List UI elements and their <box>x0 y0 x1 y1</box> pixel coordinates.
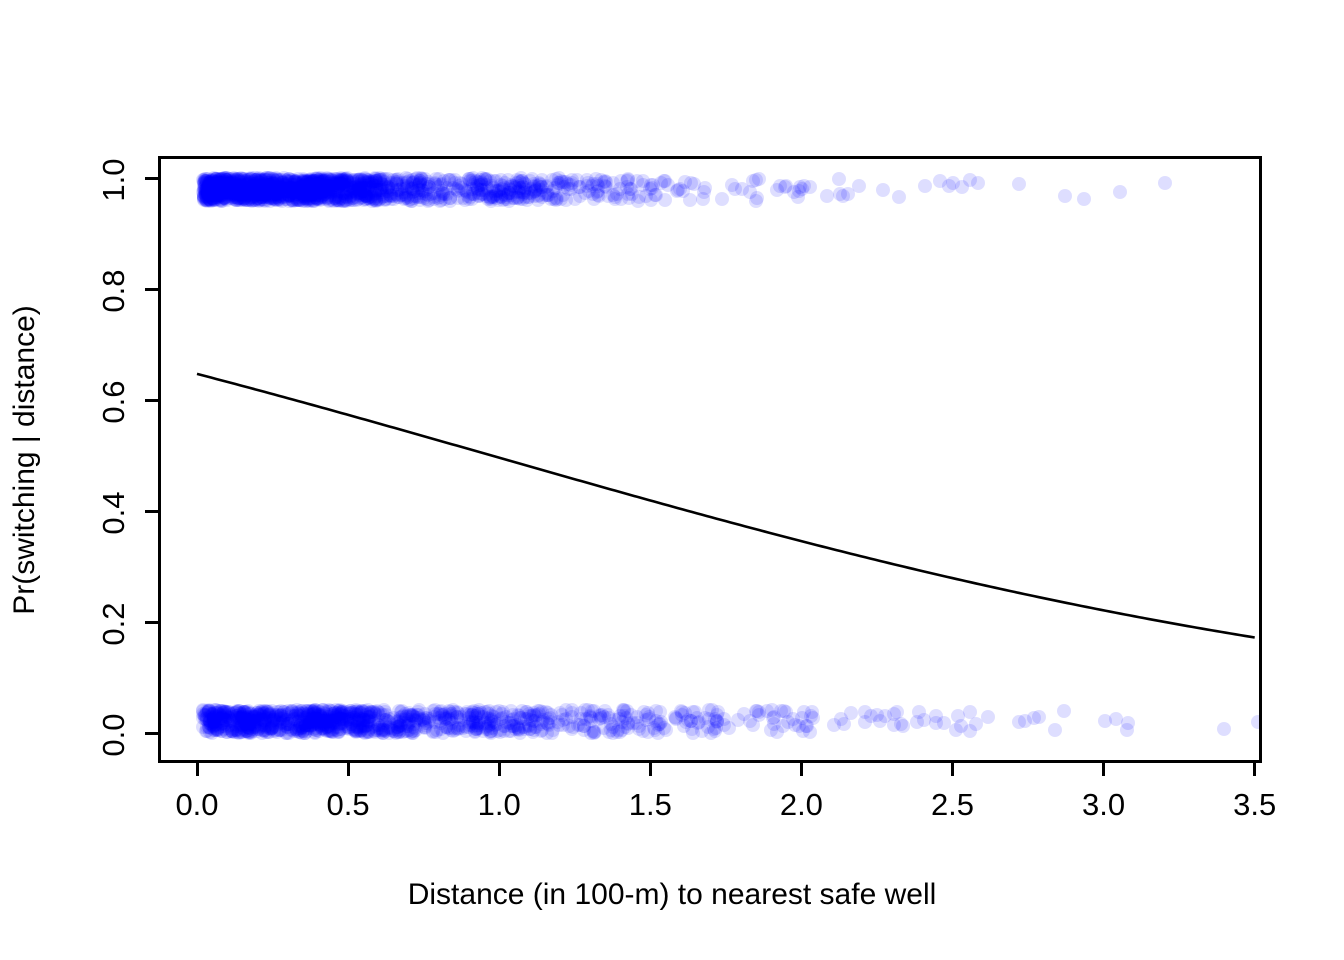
x-axis-tick <box>1102 763 1105 776</box>
x-axis-tick <box>649 763 652 776</box>
y-axis-tick-label: 0.0 <box>96 690 132 780</box>
x-axis-tick-label: 3.0 <box>1044 787 1164 823</box>
x-axis-tick-label: 2.0 <box>741 787 861 823</box>
plot-region <box>158 156 1262 763</box>
y-axis-tick-label: 0.6 <box>96 357 132 447</box>
y-axis-tick <box>145 177 158 180</box>
y-axis-tick-label: 0.2 <box>96 579 132 669</box>
y-axis-tick-label: 0.8 <box>96 246 132 336</box>
y-axis-tick <box>145 621 158 624</box>
x-axis-tick-label: 2.5 <box>893 787 1013 823</box>
y-axis-tick <box>145 288 158 291</box>
x-axis-tick-label: 0.5 <box>288 787 408 823</box>
fitted-curve-layer <box>161 159 1259 760</box>
x-axis-title: Distance (in 100-m) to nearest safe well <box>0 878 1344 912</box>
y-axis-tick <box>145 510 158 513</box>
x-axis-tick <box>800 763 803 776</box>
fitted-logistic-curve <box>197 374 1255 638</box>
y-axis-title: Pr(switching | distance) <box>8 140 42 780</box>
x-axis-tick <box>1253 763 1256 776</box>
x-axis-tick-label: 0.0 <box>137 787 257 823</box>
x-axis-tick <box>951 763 954 776</box>
y-axis-tick-label: 1.0 <box>96 135 132 225</box>
x-axis-tick-label: 1.0 <box>439 787 559 823</box>
chart-canvas: Pr(switching | distance) Distance (in 10… <box>0 0 1344 960</box>
x-axis-tick-label: 1.5 <box>590 787 710 823</box>
x-axis-tick <box>196 763 199 776</box>
y-axis-tick <box>145 732 158 735</box>
y-axis-tick <box>145 399 158 402</box>
x-axis-tick-label: 3.5 <box>1195 787 1315 823</box>
y-axis-tick-label: 0.4 <box>96 468 132 558</box>
x-axis-tick <box>347 763 350 776</box>
x-axis-tick <box>498 763 501 776</box>
